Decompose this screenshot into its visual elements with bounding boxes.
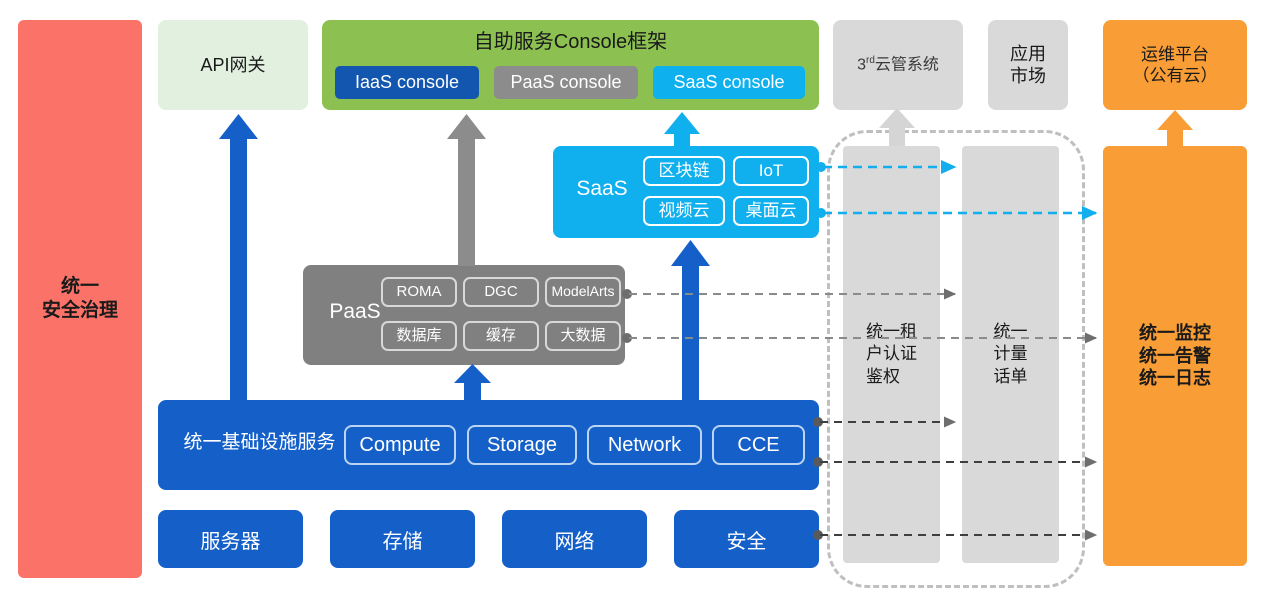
third-party-label: 3rd云管系统: [857, 55, 939, 75]
third-party-superscript: rd: [866, 55, 875, 66]
saas-layer[interactable]: SaaS 区块链 IoT 视频云 桌面云: [553, 146, 819, 238]
iaas-console-chip[interactable]: IaaS console: [335, 66, 479, 99]
app-market-line2: 市场: [1010, 65, 1046, 88]
col-billing-line2: 计量: [994, 343, 1028, 365]
third-party-prefix: 3: [857, 56, 866, 73]
api-gateway-label: API网关: [200, 54, 265, 77]
unified-metering-billing-column[interactable]: 统一 计量 话单: [962, 146, 1059, 563]
saas-chip-blockchain[interactable]: 区块链: [643, 156, 725, 186]
arrow-saas-to-console: [664, 112, 700, 148]
bottom-box-storage[interactable]: 存储: [330, 510, 475, 568]
infra-chip-cce[interactable]: CCE: [712, 425, 805, 465]
unified-tenant-auth-column[interactable]: 统一租 户认证 鉴权: [843, 146, 940, 563]
ops-body-line1: 统一监控: [1139, 322, 1211, 345]
arrow-infra-to-api-gateway: [219, 114, 258, 400]
ops-body-line2: 统一告警: [1139, 345, 1211, 368]
paas-console-chip[interactable]: PaaS console: [494, 66, 638, 99]
arrow-infra-to-paas: [454, 364, 491, 402]
ops-platform-public-cloud-box[interactable]: 运维平台 （公有云）: [1103, 20, 1247, 110]
unified-infrastructure-service-bar[interactable]: 统一基础设施服务 Compute Storage Network CCE: [158, 400, 819, 490]
saas-chip-iot[interactable]: IoT: [733, 156, 809, 186]
ops-top-line1: 运维平台: [1133, 44, 1218, 65]
bottom-box-network[interactable]: 网络: [502, 510, 647, 568]
infra-chip-storage[interactable]: Storage: [467, 425, 577, 465]
security-pillar-line1: 统一: [42, 275, 118, 299]
col-auth-line1: 统一租: [866, 321, 917, 343]
arrow-ops-body-to-ops-top: [1157, 110, 1193, 147]
security-pillar-line2: 安全治理: [42, 299, 118, 323]
bottom-box-security[interactable]: 安全: [674, 510, 819, 568]
paas-chip-modelarts[interactable]: ModelArts: [545, 277, 621, 307]
saas-chip-video-cloud[interactable]: 视频云: [643, 196, 725, 226]
app-market-line1: 应用: [1010, 43, 1046, 66]
third-party-suffix: 云管系统: [875, 56, 939, 73]
unified-security-governance-pillar[interactable]: 统一 安全治理: [18, 20, 142, 578]
paas-chip-cache[interactable]: 缓存: [463, 321, 539, 351]
col-auth-line3: 鉴权: [866, 366, 917, 388]
paas-chip-bigdata[interactable]: 大数据: [545, 321, 621, 351]
saas-console-chip[interactable]: SaaS console: [653, 66, 805, 99]
paas-layer[interactable]: PaaS ROMA DGC ModelArts 数据库 缓存 大数据: [303, 265, 625, 365]
api-gateway-box[interactable]: API网关: [158, 20, 308, 110]
saas-chip-desktop-cloud[interactable]: 桌面云: [733, 196, 809, 226]
paas-chip-roma[interactable]: ROMA: [381, 277, 457, 307]
architecture-diagram: 统一 安全治理 API网关 自助服务Console框架 IaaS console…: [0, 0, 1265, 605]
ops-top-line2: （公有云）: [1133, 65, 1218, 86]
paas-chip-dgc[interactable]: DGC: [463, 277, 539, 307]
app-market-box[interactable]: 应用 市场: [988, 20, 1068, 110]
infra-chip-network[interactable]: Network: [587, 425, 702, 465]
bottom-box-server[interactable]: 服务器: [158, 510, 303, 568]
ops-body-line3: 统一日志: [1139, 367, 1211, 390]
col-billing-line3: 话单: [994, 366, 1028, 388]
arrow-paas-to-console: [447, 114, 486, 266]
console-frame-title: 自助服务Console框架: [322, 30, 819, 55]
infra-chip-compute[interactable]: Compute: [344, 425, 456, 465]
self-service-console-frame[interactable]: 自助服务Console框架 IaaS console PaaS console …: [322, 20, 819, 110]
unified-monitoring-alarm-log-pillar[interactable]: 统一监控 统一告警 统一日志: [1103, 146, 1247, 566]
third-party-cloud-management-box[interactable]: 3rd云管系统: [833, 20, 963, 110]
col-auth-line2: 户认证: [866, 343, 917, 365]
paas-chip-database[interactable]: 数据库: [381, 321, 457, 351]
infra-bar-label: 统一基础设施服务: [172, 431, 347, 455]
arrow-infra-to-saas: [671, 240, 710, 402]
saas-layer-label: SaaS: [565, 176, 639, 202]
col-billing-line1: 统一: [994, 321, 1028, 343]
